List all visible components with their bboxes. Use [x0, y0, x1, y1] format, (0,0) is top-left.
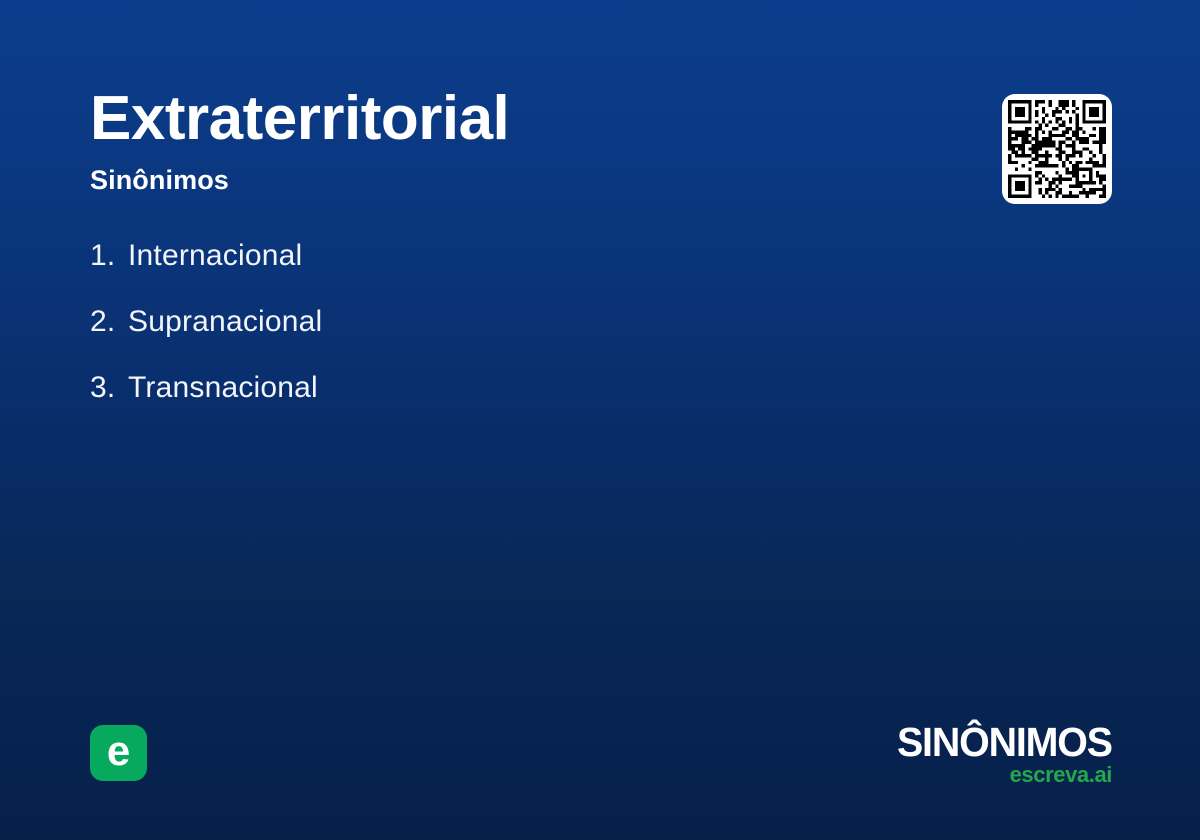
synonym-item[interactable]: 3.Transnacional: [90, 368, 950, 434]
escreva-e-logo-icon[interactable]: e: [90, 725, 147, 781]
wordmark-secondary: escreva.ai: [888, 764, 1112, 786]
synonym-term: Supranacional: [128, 302, 322, 342]
wordmark-primary: SINÔNIMOS: [897, 722, 1112, 763]
synonym-index: 2.: [90, 302, 128, 342]
qr-code-icon: [1008, 100, 1106, 198]
synonym-index: 1.: [90, 236, 128, 276]
page-title: Extraterritorial: [90, 84, 930, 154]
synonym-index: 3.: [90, 368, 128, 408]
page-subtitle: Sinônimos: [90, 164, 930, 196]
synonym-item[interactable]: 1.Internacional: [90, 236, 950, 302]
sinonimos-wordmark[interactable]: SINÔNIMOS escreva.ai: [888, 722, 1112, 786]
qr-code-card[interactable]: [1002, 94, 1112, 204]
synonyms-list: 1.Internacional2.Supranacional3.Transnac…: [90, 236, 950, 434]
synonym-card: Extraterritorial Sinônimos 1.Internacion…: [0, 0, 1200, 840]
brand-mark-letter: e: [107, 730, 130, 772]
synonym-term: Internacional: [128, 236, 302, 276]
synonym-term: Transnacional: [128, 368, 318, 408]
headline-block: Extraterritorial Sinônimos: [90, 84, 930, 196]
synonym-item[interactable]: 2.Supranacional: [90, 302, 950, 368]
